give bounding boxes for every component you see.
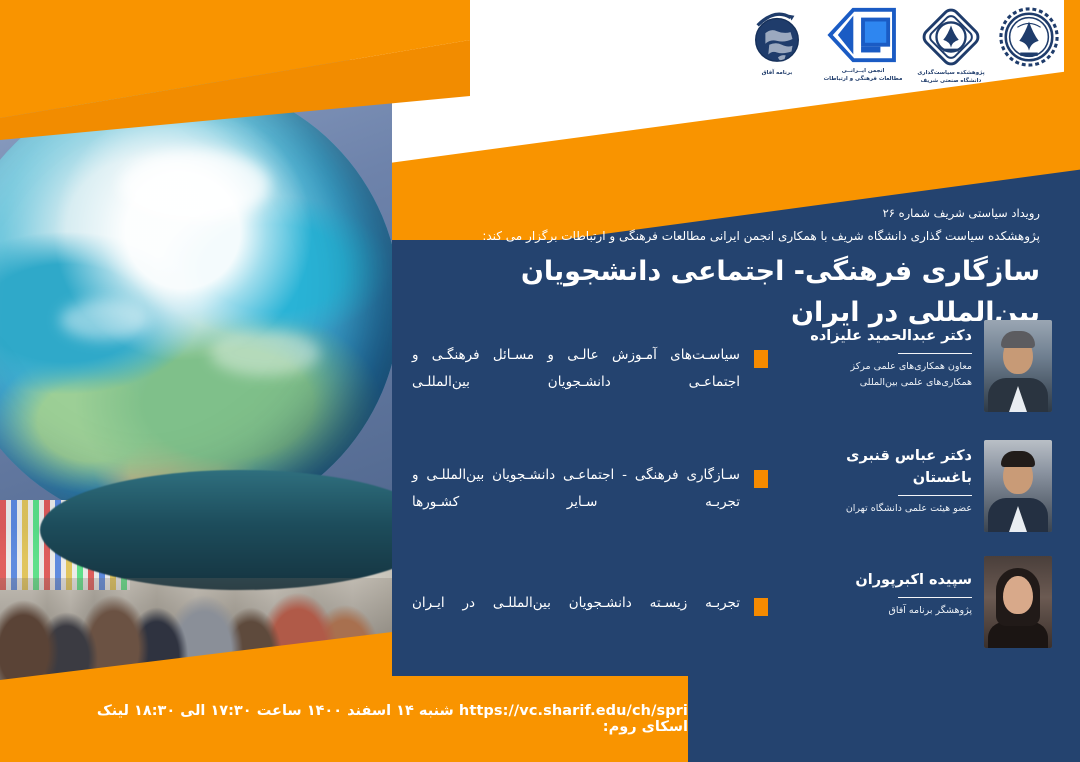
skyroom-link[interactable]: https://vc.sharif.edu/ch/spri <box>459 703 688 719</box>
kicker-text: رویداد سیاستی شریف شماره ۲۶ پژوهشکده سیا… <box>420 203 1040 248</box>
cloud-shape <box>120 150 270 220</box>
speaker-role: پژوهشگر برنامه آفاق <box>782 603 972 619</box>
earth-globe-photo <box>0 78 392 530</box>
right-edge-orange-bar <box>1064 0 1080 120</box>
portrait-abdolhamid-alizadeh <box>984 320 1052 412</box>
bullet-square-icon <box>754 350 768 368</box>
sharif-circular-emblem-icon <box>998 6 1060 68</box>
speaker-topic: سـازگاری فرهنگی - اجتماعـی دانشـجویان بی… <box>412 440 740 516</box>
iranian-cultural-studies-association-logo-caption: انجمن ایــرانــی مطالعات فرهنگی و ارتباط… <box>824 68 903 84</box>
divider <box>898 353 972 354</box>
globe-emblem-icon <box>746 6 808 68</box>
sharif-diamond-emblem-icon <box>920 6 982 68</box>
cloud-shape <box>210 330 320 376</box>
event-poster: برنامه آفاق انجمن ایــرانــی مطالعات فره… <box>0 0 1080 762</box>
speaker-info: دکتر عبدالحمید علیزاده معاون همکاری‌های … <box>782 320 972 391</box>
speaker-info: دکتر عباس قنبری باغستان عضو هیئت علمی دا… <box>782 440 972 517</box>
bullet-square-icon <box>754 470 768 488</box>
portrait-sepideh-akbarpouran <box>984 556 1052 648</box>
speaker-topic: تجربـه زیسـته دانشـجویان بین‌المللـی در … <box>412 556 740 617</box>
kicker-line-2: پژوهشکده سیاست گذاری دانشگاه شریف با همک… <box>420 225 1040 248</box>
speaker-row: دکتر عباس قنبری باغستان عضو هیئت علمی دا… <box>412 440 1052 536</box>
bullet-square-icon <box>754 598 768 616</box>
iranian-cultural-studies-association-logo: انجمن ایــرانــی مطالعات فرهنگی و ارتباط… <box>820 6 906 84</box>
arrow-square-emblem-icon <box>822 6 904 66</box>
speaker-row: دکتر عبدالحمید علیزاده معاون همکاری‌های … <box>412 320 1052 416</box>
divider <box>898 597 972 598</box>
cloud-shape <box>60 300 150 340</box>
footer-bar: https://vc.sharif.edu/ch/spri شنبه ۱۴ اس… <box>64 676 688 762</box>
speaker-info: سپیده اکبرپوران پژوهشگر برنامه آفاق <box>782 556 972 619</box>
sharif-university-logo <box>996 6 1062 70</box>
main-panel: برنامه آفاق انجمن ایــرانــی مطالعات فره… <box>392 0 1080 762</box>
speaker-name: دکتر عباس قنبری باغستان <box>782 446 972 490</box>
divider <box>898 495 972 496</box>
speaker-role: عضو هیئت علمی دانشگاه تهران <box>782 501 972 517</box>
footer-text: https://vc.sharif.edu/ch/spri شنبه ۱۴ اس… <box>64 703 688 735</box>
speaker-name: سپیده اکبرپوران <box>782 570 972 592</box>
afagh-program-logo: برنامه آفاق <box>744 6 810 78</box>
speaker-name: دکتر عبدالحمید علیزاده <box>782 326 972 348</box>
speaker-row: سپیده اکبرپوران پژوهشگر برنامه آفاق تجرب… <box>412 556 1052 652</box>
speaker-role: معاون همکاری‌های علمی مرکز همکاری‌های عل… <box>782 359 972 391</box>
sharif-policy-research-institute-logo-caption: پژوهشکده سیاست‌گذاری دانشگاه صنعتی شریف <box>917 70 984 86</box>
kicker-line-1: رویداد سیاستی شریف شماره ۲۶ <box>420 203 1040 225</box>
sharif-policy-research-institute-logo: پژوهشکده سیاست‌گذاری دانشگاه صنعتی شریف <box>916 6 986 86</box>
speaker-topic: سیاسـت‌های آمـوزش عالـی و مسـائل فرهنگـی… <box>412 320 740 396</box>
portrait-abbas-ghanbari-baghestan <box>984 440 1052 532</box>
afagh-program-logo-caption: برنامه آفاق <box>762 70 793 78</box>
logo-row: برنامه آفاق انجمن ایــرانــی مطالعات فره… <box>744 6 1062 86</box>
